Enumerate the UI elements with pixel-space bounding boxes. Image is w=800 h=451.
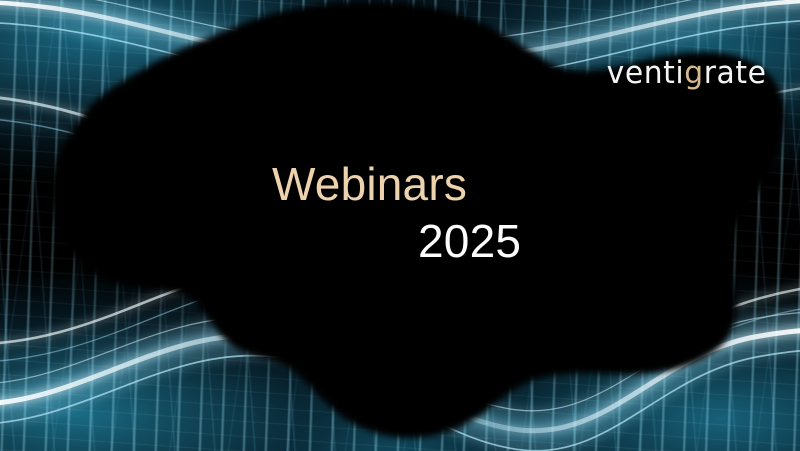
page-title: Webinars (0, 160, 560, 209)
logo-text-accent-g: g (684, 55, 703, 91)
page-title-year: 2025 (0, 217, 560, 266)
title-slide: Webinars 2025 ventigrate (0, 0, 800, 451)
title-block: Webinars 2025 (0, 160, 560, 266)
logo-text-part-1: venti (606, 55, 684, 91)
ventigrate-logo: ventigrate (606, 58, 766, 89)
logo-text-part-2: rate (703, 55, 766, 91)
